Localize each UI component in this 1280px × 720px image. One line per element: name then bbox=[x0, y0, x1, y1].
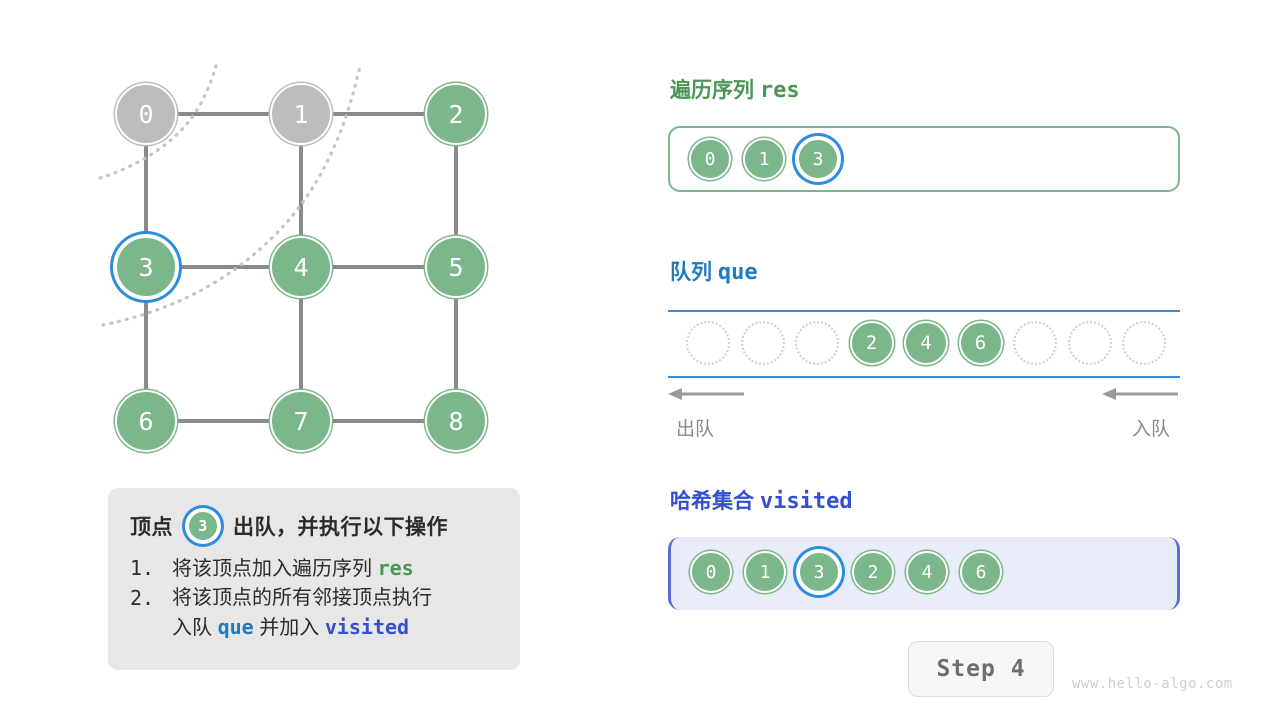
operation-headline: 顶点 3 出队，并执行以下操作 bbox=[130, 504, 500, 548]
graph-node-4: 4 bbox=[270, 236, 332, 298]
headline-suffix: 出队，并执行以下操作 bbox=[233, 511, 448, 541]
queue-slot-item-1 bbox=[741, 321, 785, 365]
step-2-part-0: 入队 bbox=[172, 617, 218, 639]
visited-item-2: 3 bbox=[798, 551, 840, 593]
operation-step-line-1: 2.将该顶点的所有邻接顶点执行 bbox=[130, 584, 500, 613]
step-number-2 bbox=[130, 613, 172, 643]
step-0-part-0: 将该顶点加入遍历序列 bbox=[172, 558, 378, 580]
operation-description-box: 顶点 3 出队，并执行以下操作 1.将该顶点加入遍历序列 res2.将该顶点的所… bbox=[108, 488, 520, 670]
step-2-part-2: 并加入 bbox=[254, 617, 325, 639]
step-text-2: 入队 que 并加入 visited bbox=[172, 613, 409, 643]
enqueue-label: 入队 bbox=[1132, 414, 1170, 441]
queue-rail-bottom bbox=[668, 376, 1180, 378]
res-title-cn: 遍历序列 bbox=[670, 79, 754, 102]
watermark: www.hello-algo.com bbox=[1072, 676, 1233, 692]
operation-steps-list: 1.将该顶点加入遍历序列 res2.将该顶点的所有邻接顶点执行入队 que 并加… bbox=[130, 554, 500, 643]
graph-node-6: 6 bbox=[115, 390, 177, 452]
dequeue-label: 出队 bbox=[676, 414, 714, 441]
graph-node-3: 3 bbox=[115, 236, 177, 298]
queue-slot-item-2 bbox=[795, 321, 839, 365]
graph-node-5: 5 bbox=[425, 236, 487, 298]
step-badge: Step 4 bbox=[908, 641, 1054, 697]
visited-title-code: visited bbox=[760, 489, 853, 514]
step-2-part-3: visited bbox=[325, 615, 409, 639]
queue-rail-top bbox=[668, 310, 1180, 312]
graph-node-2: 2 bbox=[425, 83, 487, 145]
queue-slot-item-5: 6 bbox=[959, 321, 1003, 365]
step-0-part-1: res bbox=[378, 556, 414, 580]
queue-slot-item-0 bbox=[686, 321, 730, 365]
graph-panel: 012345678 bbox=[0, 0, 600, 500]
graph-node-1: 1 bbox=[270, 83, 332, 145]
headline-node-badge: 3 bbox=[187, 510, 219, 542]
enqueue-arrow bbox=[1102, 386, 1180, 402]
visited-title: 哈希集合 visited bbox=[670, 485, 853, 515]
res-item-0: 0 bbox=[689, 138, 731, 180]
res-item-2: 3 bbox=[797, 138, 839, 180]
queue-slot-item-7 bbox=[1068, 321, 1112, 365]
res-sequence-box: 013 bbox=[668, 126, 1180, 192]
graph-node-7: 7 bbox=[270, 390, 332, 452]
visited-item-3: 2 bbox=[852, 551, 894, 593]
queue-slot-item-8 bbox=[1122, 321, 1166, 365]
headline-prefix: 顶点 bbox=[130, 511, 173, 541]
step-2-part-1: que bbox=[218, 615, 254, 639]
visited-set-box: 013246 bbox=[668, 537, 1180, 610]
queue-slot-item-6 bbox=[1013, 321, 1057, 365]
res-title: 遍历序列 res bbox=[670, 74, 800, 104]
operation-step-line-2: 入队 que 并加入 visited bbox=[130, 613, 500, 643]
node-badge-3: 3 bbox=[187, 510, 219, 542]
step-1-part-0: 将该顶点的所有邻接顶点执行 bbox=[172, 587, 432, 609]
figure-root: 012345678 顶点 3 出队，并执行以下操作 1.将该顶点加入遍历序列 r… bbox=[0, 0, 1280, 720]
visited-item-1: 1 bbox=[744, 551, 786, 593]
queue-slot-item-3: 2 bbox=[850, 321, 894, 365]
graph-node-0: 0 bbox=[115, 83, 177, 145]
step-number-0: 1. bbox=[130, 554, 172, 584]
operation-step-line-0: 1.将该顶点加入遍历序列 res bbox=[130, 554, 500, 584]
visited-title-cn: 哈希集合 bbox=[670, 490, 754, 513]
visited-item-4: 4 bbox=[906, 551, 948, 593]
step-text-0: 将该顶点加入遍历序列 res bbox=[172, 554, 414, 584]
visited-item-5: 6 bbox=[960, 551, 1002, 593]
dequeue-arrow bbox=[668, 386, 746, 402]
queue-box: 246 bbox=[668, 310, 1180, 378]
queue-title-cn: 队列 bbox=[670, 261, 712, 284]
step-text-1: 将该顶点的所有邻接顶点执行 bbox=[172, 584, 432, 613]
queue-title-code: que bbox=[718, 260, 758, 285]
queue-title: 队列 que bbox=[670, 256, 758, 286]
res-item-1: 1 bbox=[743, 138, 785, 180]
visited-item-0: 0 bbox=[690, 551, 732, 593]
res-title-code: res bbox=[760, 78, 800, 103]
queue-slot-item-4: 4 bbox=[904, 321, 948, 365]
step-number-1: 2. bbox=[130, 584, 172, 613]
graph-node-8: 8 bbox=[425, 390, 487, 452]
